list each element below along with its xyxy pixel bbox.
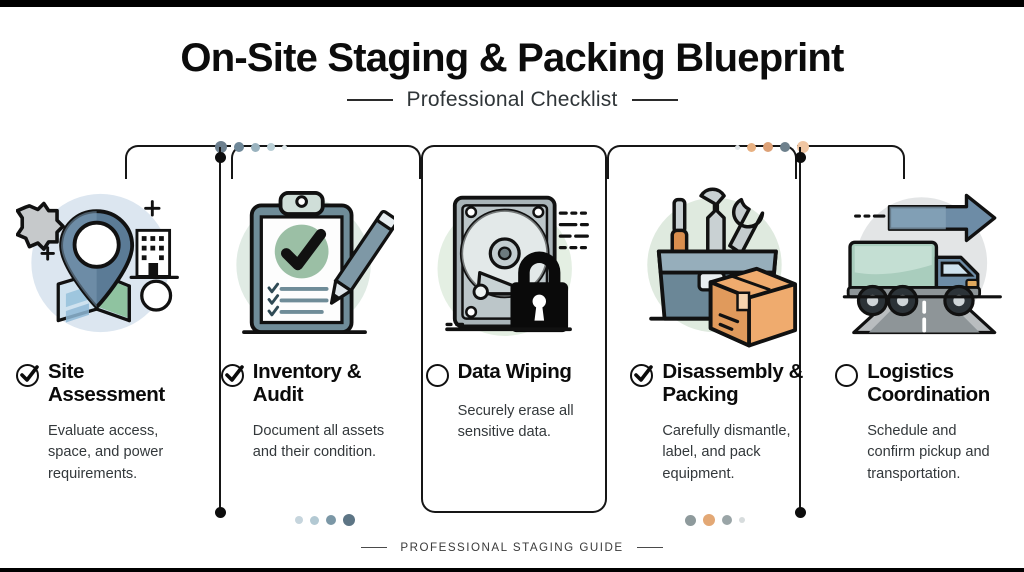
bottom-left-dot-1 xyxy=(295,516,303,524)
bracket-segment-5 xyxy=(797,145,905,179)
clipboard-checklist-icon xyxy=(221,175,394,351)
step-description: Carefully dismantle, label, and pack equ… xyxy=(662,421,803,485)
infographic-canvas: On-Site Staging & Packing Blueprint Prof… xyxy=(0,0,1024,572)
bottom-right-dot-3 xyxy=(722,515,732,525)
top-left-dot-5 xyxy=(282,145,287,150)
step-heading-row: Site Assessment xyxy=(16,361,189,407)
footer-text: PROFESSIONAL STAGING GUIDE xyxy=(400,541,623,554)
checkbox-unchecked-icon[interactable] xyxy=(426,364,449,387)
checkbox-checked-icon[interactable] xyxy=(630,364,653,387)
page-title: On-Site Staging & Packing Blueprint xyxy=(0,37,1024,79)
footer-rule-left xyxy=(361,547,387,549)
top-right-dot-1 xyxy=(735,145,740,150)
subtitle-row: Professional Checklist xyxy=(0,88,1024,112)
page-subtitle: Professional Checklist xyxy=(407,88,618,112)
step-title: Data Wiping xyxy=(458,361,572,384)
step-heading-row: Disassembly & Packing xyxy=(630,361,803,407)
step-title: Logistics Coordination xyxy=(867,361,1008,407)
footer-rule-right xyxy=(637,547,663,549)
top-left-dot-4 xyxy=(267,143,275,151)
top-left-dot-3 xyxy=(251,143,260,152)
top-right-dot-3 xyxy=(763,142,773,152)
delivery-truck-icon xyxy=(835,175,1008,351)
step-description: Document all assets and their condition. xyxy=(253,421,394,464)
bottom-left-dot-sequence xyxy=(295,512,355,528)
step-description: Securely erase all sensitive data. xyxy=(458,401,599,444)
step-heading-row: Inventory & Audit xyxy=(221,361,394,407)
step-heading-row: Data Wiping xyxy=(426,361,599,387)
bottom-right-dot-sequence xyxy=(685,512,745,528)
bottom-left-dot-4 xyxy=(343,514,355,526)
toolbox-box-icon xyxy=(630,175,803,351)
step-card-disassembly-packing[interactable]: Disassembly & Packing Carefully dismantl… xyxy=(614,175,819,485)
checkbox-unchecked-icon[interactable] xyxy=(835,364,858,387)
checkbox-checked-icon[interactable] xyxy=(16,364,39,387)
header: On-Site Staging & Packing Blueprint Prof… xyxy=(0,37,1024,112)
step-card-data-wiping[interactable]: Data Wiping Securely erase all sensitive… xyxy=(410,175,615,485)
checkbox-checked-icon[interactable] xyxy=(221,364,244,387)
footer: PROFESSIONAL STAGING GUIDE xyxy=(0,541,1024,554)
location-pin-map-icon xyxy=(16,175,189,351)
subtitle-rule-left xyxy=(347,99,393,101)
step-card-inventory-audit[interactable]: Inventory & Audit Document all assets an… xyxy=(205,175,410,485)
subtitle-rule-right xyxy=(632,99,678,101)
step-title: Site Assessment xyxy=(48,361,189,407)
step-title: Disassembly & Packing xyxy=(662,361,803,407)
step-card-site-assessment[interactable]: Site Assessment Evaluate access, space, … xyxy=(0,175,205,485)
top-left-dot-sequence xyxy=(215,139,287,155)
step-description: Schedule and confirm pickup and transpor… xyxy=(867,421,1008,485)
top-right-dot-4 xyxy=(780,142,790,152)
bottom-left-dot-2 xyxy=(310,516,319,525)
top-left-dot-2 xyxy=(234,142,244,152)
steps-row: Site Assessment Evaluate access, space, … xyxy=(0,175,1024,485)
bottom-right-dot-2 xyxy=(703,514,715,526)
bottom-left-dot-3 xyxy=(326,515,336,525)
bottom-right-dot-4 xyxy=(739,517,745,523)
hard-drive-lock-icon xyxy=(426,175,599,351)
top-right-dot-2 xyxy=(747,143,756,152)
step-card-logistics-coordination[interactable]: Logistics Coordination Schedule and conf… xyxy=(819,175,1024,485)
bottom-right-dot-1 xyxy=(685,515,696,526)
step-heading-row: Logistics Coordination xyxy=(835,361,1008,407)
step-title: Inventory & Audit xyxy=(253,361,394,407)
step-description: Evaluate access, space, and power requir… xyxy=(48,421,189,485)
